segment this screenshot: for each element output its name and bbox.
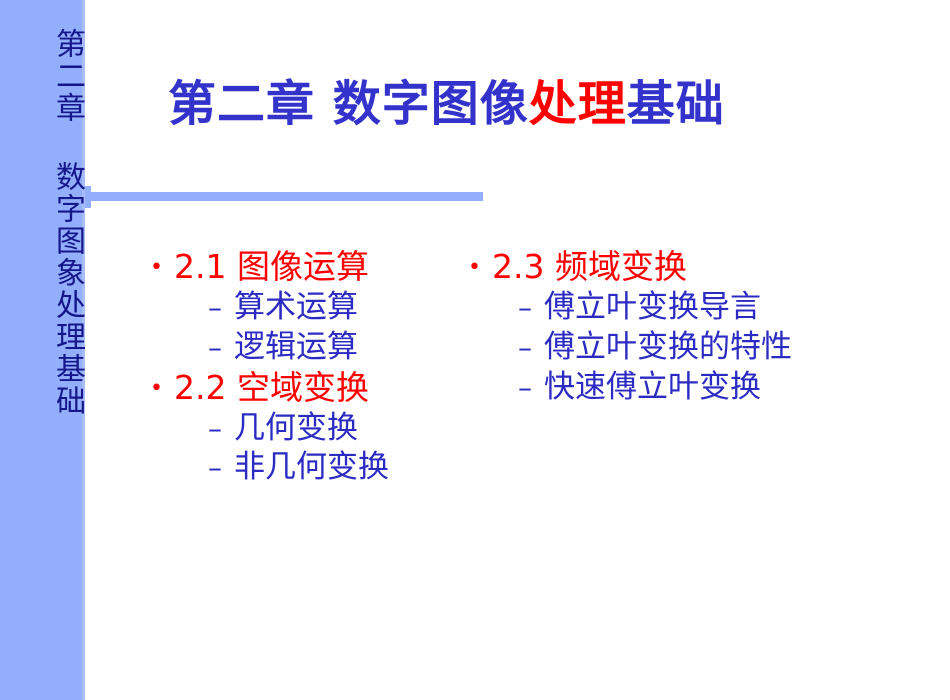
page-title-part-3-highlight: 处理 bbox=[529, 76, 627, 132]
sidebar-band: 第二章 数字图象处理基础 bbox=[0, 0, 85, 700]
outline-group-2-2: • 2.2 空域变换 – 几何变换 – 非几何变换 bbox=[150, 369, 470, 488]
dash-icon: – bbox=[518, 334, 544, 362]
dash-icon: – bbox=[518, 374, 544, 402]
outline-subitem[interactable]: – 傅立叶变换导言 bbox=[518, 289, 868, 327]
presentation-slide: 第二章 数字图象处理基础 第二章 数字图像处理基础 • 2.1 图像运算 – 算… bbox=[0, 0, 950, 700]
outline-subitem[interactable]: – 几何变换 bbox=[208, 410, 470, 448]
outline-subitem[interactable]: – 非几何变换 bbox=[208, 449, 470, 487]
page-title-part-1: 第二章 数字图 bbox=[168, 76, 480, 132]
outline-heading-label: 2.1 图像运算 bbox=[174, 248, 369, 287]
outline-heading-label: 2.3 频域变换 bbox=[492, 248, 687, 287]
right-column: • 2.3 频域变换 – 傅立叶变换导言 – 傅立叶变换的特性 – 快速傅立叶变… bbox=[468, 248, 868, 408]
dash-icon: – bbox=[208, 454, 234, 482]
title-divider bbox=[85, 192, 483, 201]
outline-group-2-1: • 2.1 图像运算 – 算术运算 – 逻辑运算 bbox=[150, 248, 470, 367]
dash-icon: – bbox=[518, 294, 544, 322]
page-title-part-2: 像 bbox=[480, 76, 529, 132]
outline-subitem-label: 逻辑运算 bbox=[234, 329, 470, 367]
outline-group-2-3: • 2.3 频域变换 – 傅立叶变换导言 – 傅立叶变换的特性 – 快速傅立叶变… bbox=[468, 248, 868, 406]
bullet-icon: • bbox=[468, 257, 490, 279]
bullet-icon: • bbox=[150, 257, 172, 279]
dash-icon: – bbox=[208, 415, 234, 443]
bullet-icon: • bbox=[150, 378, 172, 400]
outline-heading-label: 2.2 空域变换 bbox=[174, 369, 369, 408]
left-column: • 2.1 图像运算 – 算术运算 – 逻辑运算 • 2.2 空域变换 – 几何… bbox=[150, 248, 470, 489]
page-title: 第二章 数字图像处理基础 bbox=[168, 80, 725, 128]
outline-subitem-label: 傅立叶变换的特性 bbox=[544, 329, 854, 367]
outline-subitem[interactable]: – 快速傅立叶变换 bbox=[518, 369, 868, 407]
outline-subitem-label: 快速傅立叶变换 bbox=[544, 369, 854, 407]
outline-subitem-label: 几何变换 bbox=[234, 410, 470, 448]
outline-subitem-label: 非几何变换 bbox=[234, 449, 470, 487]
dash-icon: – bbox=[208, 294, 234, 322]
outline-subitem-label: 傅立叶变换导言 bbox=[544, 289, 854, 327]
outline-subitem[interactable]: – 算术运算 bbox=[208, 289, 470, 327]
outline-heading-2-2[interactable]: • 2.2 空域变换 bbox=[150, 369, 470, 408]
sidebar-vertical-title: 第二章 数字图象处理基础 bbox=[0, 28, 82, 417]
page-title-part-4: 基础 bbox=[627, 76, 725, 132]
outline-subitem-label: 算术运算 bbox=[234, 289, 470, 327]
outline-heading-2-3[interactable]: • 2.3 频域变换 bbox=[468, 248, 868, 287]
dash-icon: – bbox=[208, 334, 234, 362]
outline-heading-2-1[interactable]: • 2.1 图像运算 bbox=[150, 248, 470, 287]
outline-subitem[interactable]: – 傅立叶变换的特性 bbox=[518, 329, 868, 367]
outline-subitem[interactable]: – 逻辑运算 bbox=[208, 329, 470, 367]
